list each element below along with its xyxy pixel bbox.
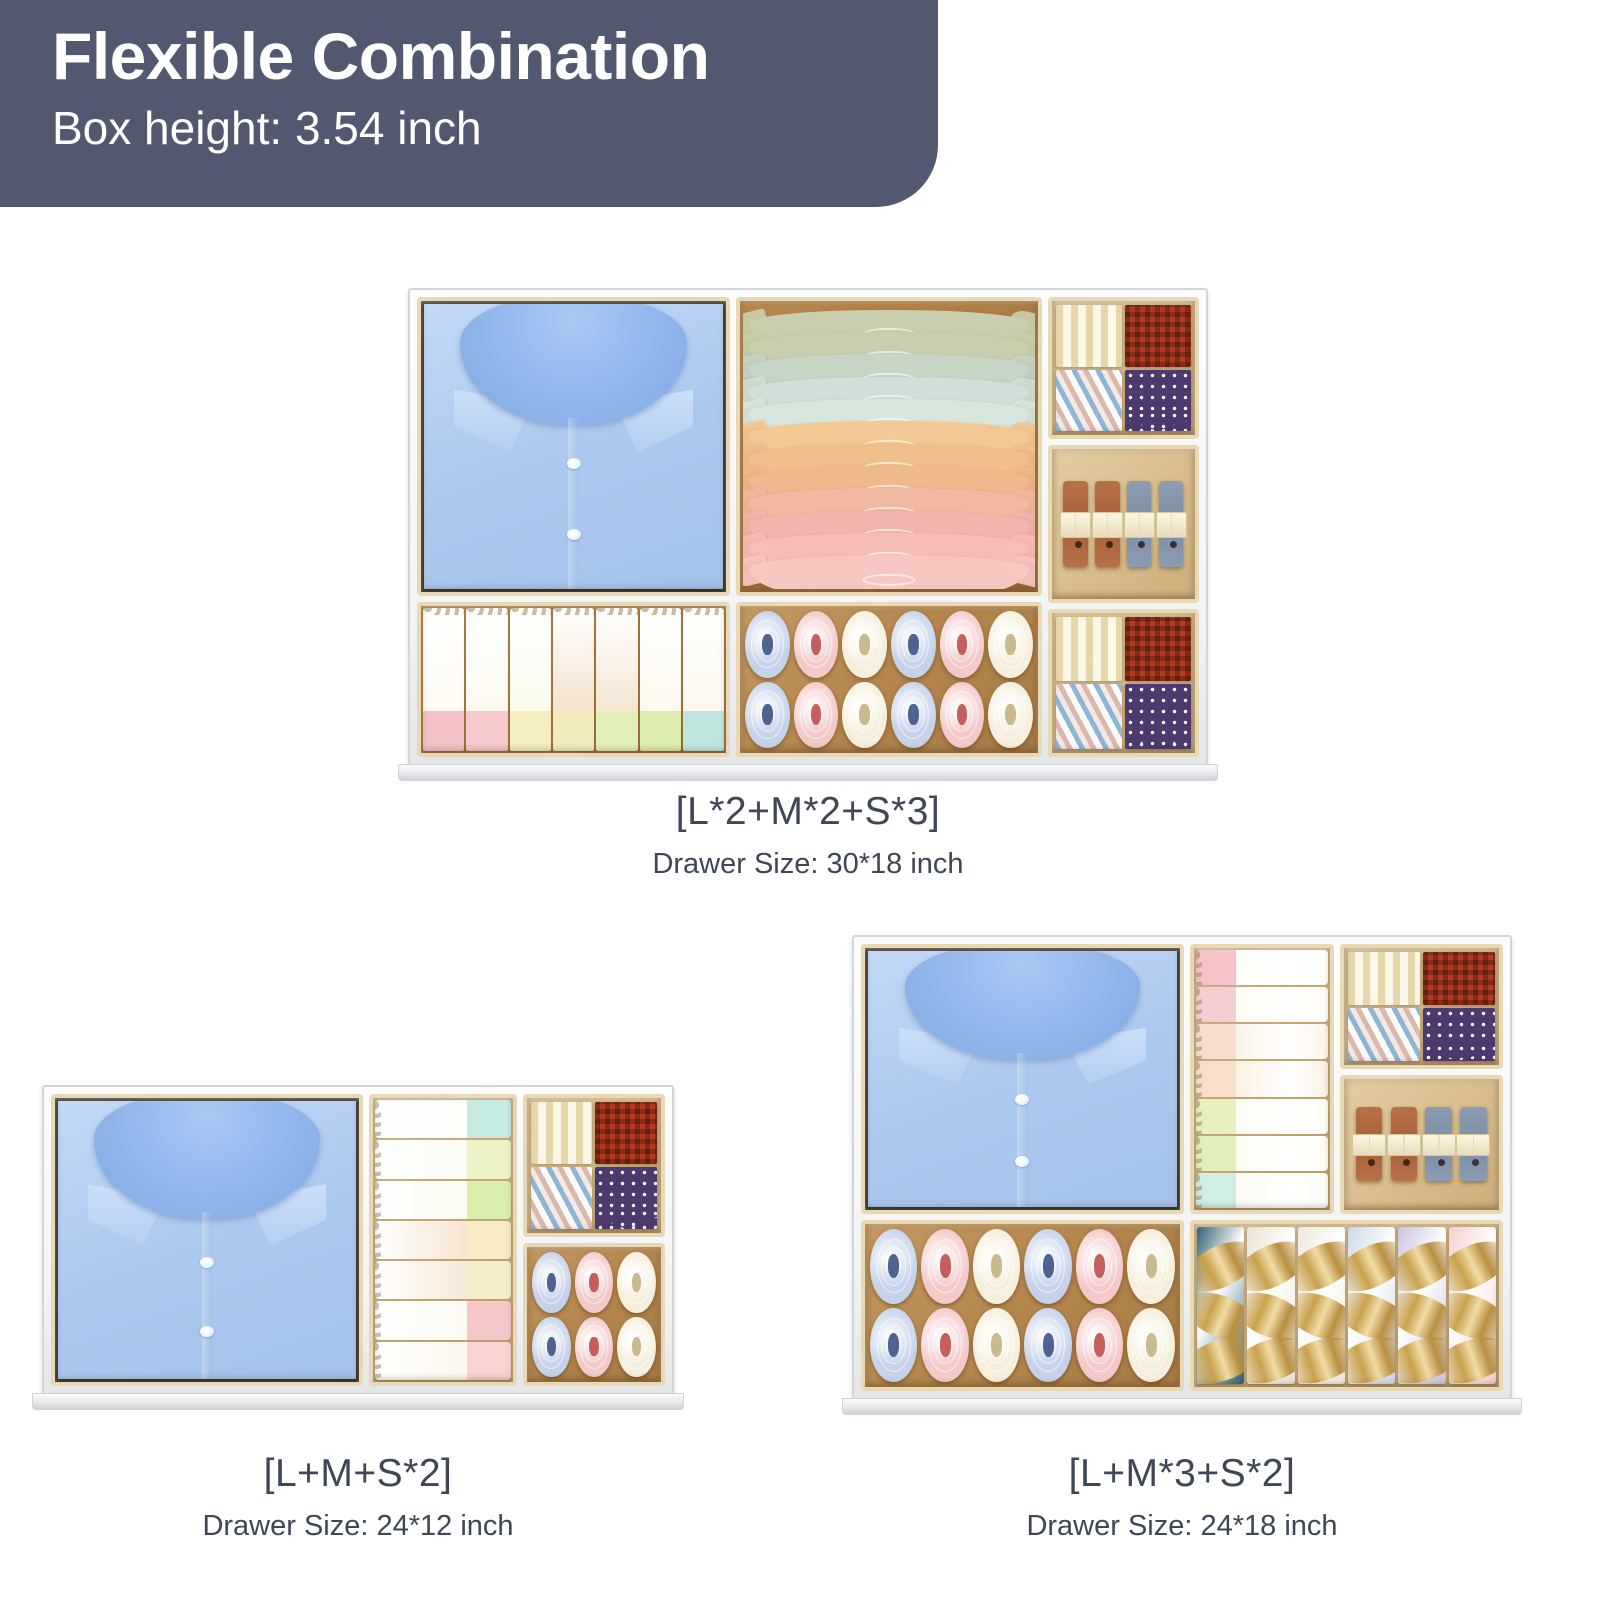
bra-item [749, 555, 1029, 589]
drawer-bottom-left [42, 1085, 674, 1395]
tie-red-checkered [1125, 617, 1191, 682]
folded-scarf [1449, 1227, 1496, 1384]
folded-clothes-group [421, 606, 726, 753]
drawer-bottom-right [852, 935, 1512, 1400]
drawer-front-lip [842, 1398, 1522, 1415]
folded-shirt [868, 951, 1177, 1207]
shirt-compartment[interactable] [861, 944, 1184, 1214]
banner-subtitle: Box height: 3.54 inch [52, 100, 938, 158]
folded-clothes-compartment[interactable] [369, 1094, 517, 1386]
drawer-front-lip [32, 1393, 684, 1410]
header-banner: Flexible Combination Box height: 3.54 in… [0, 0, 938, 207]
rolled-sock [532, 1317, 571, 1378]
tie-red-checkered [595, 1102, 657, 1164]
rolled-belt [1159, 481, 1183, 566]
rolled-sock [921, 1229, 969, 1303]
rolled-sock [617, 1252, 656, 1313]
tie-red-checkered [1125, 305, 1191, 367]
infographic-canvas: Flexible Combination Box height: 3.54 in… [0, 0, 1600, 1600]
folded-garment [1196, 1024, 1328, 1059]
rolled-sock [1024, 1229, 1071, 1303]
rolled-belt [1063, 481, 1087, 566]
tie-cream-striped [1056, 305, 1122, 367]
tie-purple-dotted [1423, 1008, 1495, 1061]
folded-garment [1196, 1136, 1328, 1171]
rolled-sock [1127, 1308, 1175, 1382]
rolled-belt [1391, 1107, 1418, 1181]
folded-garment [596, 608, 637, 751]
rolled-sock [870, 1229, 917, 1303]
bra-bow-icon [862, 574, 915, 586]
tie-cream-striped [1348, 952, 1420, 1005]
tie-blue-striped [1348, 1008, 1420, 1061]
belts-group [1344, 1079, 1499, 1211]
rolled-sock [1024, 1308, 1071, 1382]
rolled-belt [1356, 1107, 1383, 1181]
rolled-sock [973, 1229, 1021, 1303]
folded-garment [375, 1100, 511, 1138]
tie-cream-striped [531, 1102, 593, 1164]
shirt-compartment[interactable] [417, 297, 730, 596]
shirt-graphic [868, 951, 1177, 1207]
rolled-sock [617, 1317, 656, 1378]
folded-garment [553, 608, 594, 751]
folded-scarf [1298, 1227, 1345, 1384]
rolled-sock [891, 611, 936, 677]
rolled-sock [745, 611, 790, 677]
folded-clothes-group [373, 1098, 513, 1382]
tie-blue-striped [1056, 684, 1122, 749]
combination-code: [L+M+S*2] [42, 1452, 674, 1496]
rolled-sock [1127, 1229, 1175, 1303]
folded-garment [1196, 1061, 1328, 1096]
socks-compartment[interactable] [861, 1220, 1184, 1391]
tie-purple-dotted [1125, 370, 1191, 432]
folded-clothes-compartment[interactable] [1190, 944, 1334, 1214]
rolled-sock [921, 1308, 969, 1382]
drawer-top [408, 288, 1208, 766]
caption-drawer-top: [L*2+M*2+S*3] Drawer Size: 30*18 inch [408, 790, 1208, 881]
folded-scarf [1247, 1227, 1294, 1384]
folded-garment [1196, 987, 1328, 1022]
folded-scarf [1348, 1227, 1395, 1384]
banner-title: Flexible Combination [52, 18, 938, 96]
ties-compartment-1[interactable] [1048, 297, 1199, 439]
rolled-socks-group [865, 1224, 1180, 1387]
folded-garment [375, 1221, 511, 1259]
scarves-group [1194, 1224, 1499, 1387]
rolled-sock [940, 611, 985, 677]
combination-code: [L+M*3+S*2] [852, 1452, 1512, 1496]
folded-clothes-group [1194, 948, 1330, 1210]
rolled-sock [988, 611, 1033, 677]
belts-compartment[interactable] [1340, 1075, 1503, 1215]
folded-shirt [58, 1101, 356, 1379]
drawer-size-label: Drawer Size: 24*18 inch [852, 1510, 1512, 1543]
rolled-sock [575, 1317, 614, 1378]
belts-group [1052, 449, 1195, 599]
tie-blue-striped [531, 1167, 593, 1229]
rolled-sock [1076, 1229, 1124, 1303]
folded-garment [375, 1301, 511, 1339]
folded-garment [423, 608, 464, 751]
drawer-tray [852, 935, 1512, 1400]
folded-garment [640, 608, 681, 751]
drawer-tray [408, 288, 1208, 766]
drawer-size-label: Drawer Size: 24*12 inch [42, 1510, 674, 1543]
ties-group [1344, 948, 1499, 1065]
folded-garment [1196, 950, 1328, 985]
rolled-belt [1095, 481, 1119, 566]
folded-clothes-compartment[interactable] [417, 602, 730, 757]
rolled-sock [532, 1252, 571, 1313]
tie-purple-dotted [595, 1167, 657, 1229]
rolled-sock [940, 682, 985, 748]
tie-red-checkered [1423, 952, 1495, 1005]
rolled-sock [1076, 1308, 1124, 1382]
rolled-belt [1425, 1107, 1452, 1181]
rolled-sock [870, 1308, 917, 1382]
caption-drawer-bottom-left: [L+M+S*2] Drawer Size: 24*12 inch [42, 1452, 674, 1543]
rolled-belt [1127, 481, 1151, 566]
rolled-socks-group [527, 1247, 661, 1382]
rolled-sock [842, 611, 887, 677]
ties-group [1052, 613, 1195, 753]
folded-garment [510, 608, 551, 751]
folded-shirt [424, 304, 723, 589]
ties-compartment-2[interactable] [1048, 609, 1199, 757]
shirt-compartment[interactable] [51, 1094, 363, 1386]
folded-garment [466, 608, 507, 751]
folded-scarf [1398, 1227, 1445, 1384]
small-compartment-column [1048, 297, 1199, 757]
folded-garment [1196, 1173, 1328, 1208]
folded-garment [375, 1342, 511, 1380]
bras-compartment[interactable] [736, 297, 1042, 596]
socks-compartment[interactable] [523, 1243, 665, 1386]
rolled-sock [973, 1308, 1021, 1382]
folded-garment [375, 1261, 511, 1299]
small-compartment-column [1340, 944, 1503, 1214]
folded-garment [1196, 1099, 1328, 1134]
ties-compartment[interactable] [1340, 944, 1503, 1069]
folded-garment [375, 1140, 511, 1178]
caption-drawer-bottom-right: [L+M*3+S*2] Drawer Size: 24*18 inch [852, 1452, 1512, 1543]
folded-garment [683, 608, 724, 751]
rolled-sock [575, 1252, 614, 1313]
shirt-graphic [424, 304, 723, 589]
socks-compartment[interactable] [736, 602, 1042, 757]
rolled-belt [1460, 1107, 1487, 1181]
combination-code: [L*2+M*2+S*3] [408, 790, 1208, 834]
rolled-socks-group [740, 606, 1038, 753]
belts-compartment[interactable] [1048, 445, 1199, 603]
drawer-tray [42, 1085, 674, 1395]
rolled-sock [794, 611, 839, 677]
rolled-sock [988, 682, 1033, 748]
tie-cream-striped [1056, 617, 1122, 682]
scarves-compartment[interactable] [1190, 1220, 1503, 1391]
ties-compartment[interactable] [523, 1094, 665, 1237]
shirt-graphic [58, 1101, 356, 1379]
ties-group [1052, 301, 1195, 435]
drawer-front-lip [398, 764, 1218, 781]
rolled-sock [745, 682, 790, 748]
rolled-sock [794, 682, 839, 748]
tie-purple-dotted [1125, 684, 1191, 749]
rolled-sock [891, 682, 936, 748]
folded-scarf [1197, 1227, 1244, 1384]
tie-blue-striped [1056, 370, 1122, 432]
ties-group [527, 1098, 661, 1233]
bras-stack [743, 304, 1035, 589]
folded-garment [375, 1181, 511, 1219]
rolled-sock [842, 682, 887, 748]
drawer-size-label: Drawer Size: 30*18 inch [408, 848, 1208, 881]
